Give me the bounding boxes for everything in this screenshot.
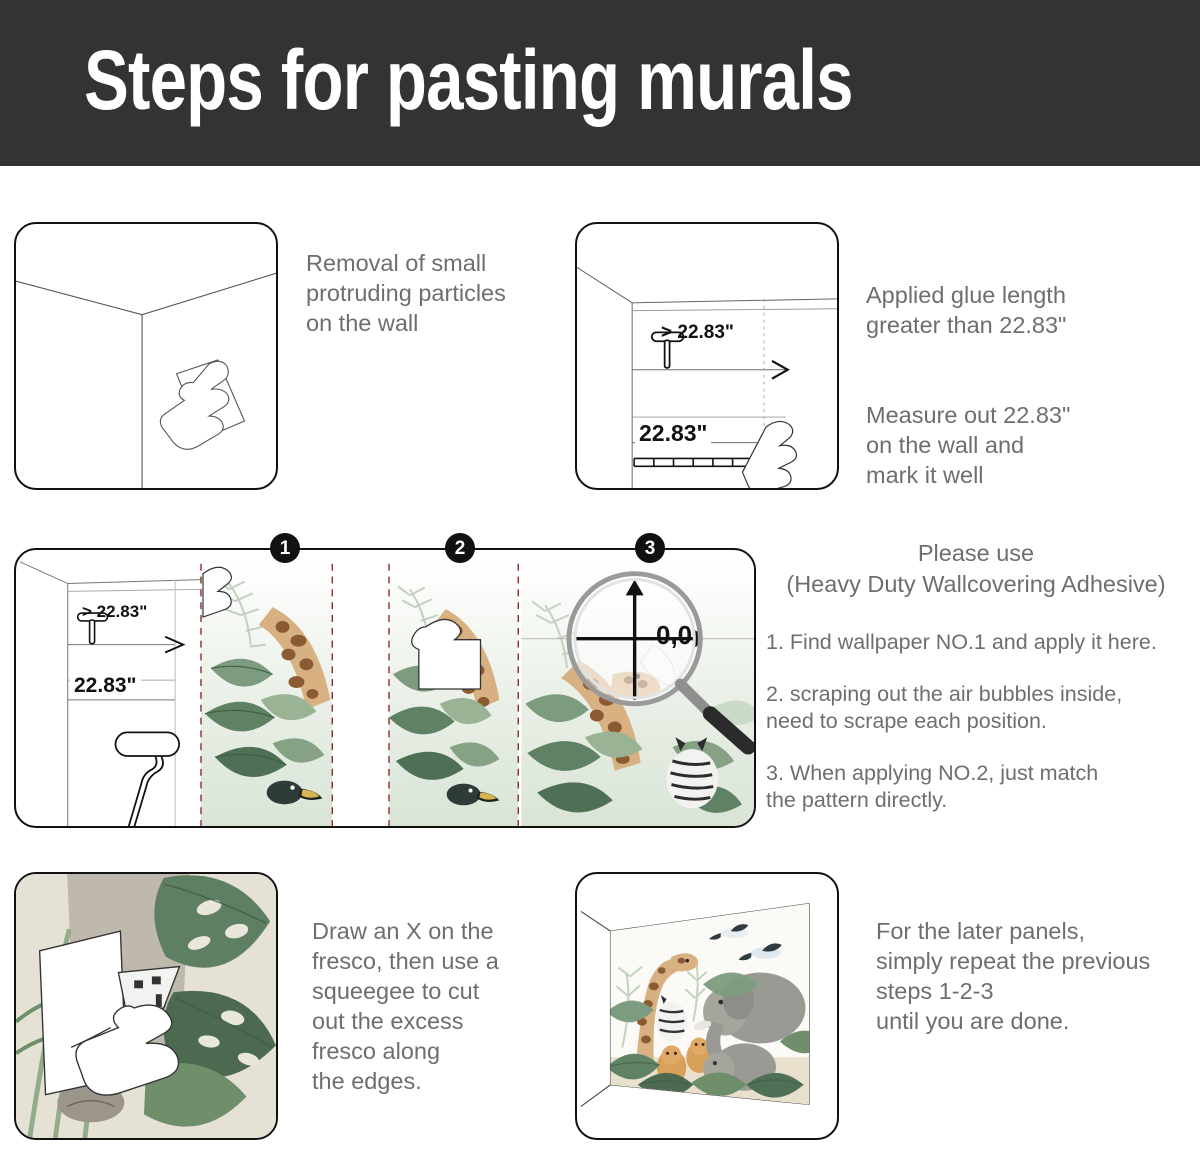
- caption-applied-glue: Applied glue length greater than 22.83": [866, 280, 1186, 340]
- caption-measure-wall: Measure out 22.83" on the wall and mark …: [866, 400, 1186, 490]
- step-badge-2: 2: [445, 533, 475, 563]
- panel-remove-particles: [14, 222, 278, 490]
- panel3-wall-measure-label: 22.83": [70, 674, 141, 698]
- panel3-glue-measure-label: > 22.83": [82, 602, 147, 622]
- wall-roller-tape-illustration: [577, 224, 837, 488]
- step-badge-1: 1: [270, 533, 300, 563]
- instructions-block: Please use (Heavy Duty Wallcovering Adhe…: [766, 538, 1186, 815]
- wall-corner-sanding-illustration: [16, 224, 276, 488]
- instruction-item-2: 2. scraping out the air bubbles inside, …: [766, 681, 1186, 736]
- panel-repeat-steps: [575, 872, 839, 1140]
- squeegee-cut-illustration: [16, 874, 276, 1138]
- magnifier-origin-label: 0,0: [656, 620, 692, 651]
- instructions-heading: Please use: [766, 538, 1186, 569]
- infographic-page: Steps for pasting murals Removal of smal…: [0, 0, 1200, 1152]
- panel-cut-excess: [14, 872, 278, 1140]
- instructions-subheading: (Heavy Duty Wallcovering Adhesive): [766, 569, 1186, 600]
- wall-measure-label: 22.83": [635, 420, 711, 447]
- caption-cut-excess: Draw an X on the fresco, then use a sque…: [312, 916, 572, 1096]
- caption-remove-particles: Removal of small protruding particles on…: [306, 248, 556, 338]
- panel-apply-glue-measure: > 22.83" 22.83": [575, 222, 839, 490]
- page-title: Steps for pasting murals: [84, 38, 853, 122]
- step-badge-3: 3: [635, 533, 665, 563]
- glue-length-measure-label: > 22.83": [661, 322, 734, 344]
- panel-apply-steps: > 22.83" 22.83" 0,0: [14, 548, 756, 828]
- instruction-item-1: 1. Find wallpaper NO.1 and apply it here…: [766, 629, 1186, 657]
- caption-repeat-steps: For the later panels, simply repeat the …: [876, 916, 1200, 1036]
- header-bar: Steps for pasting murals: [0, 0, 1200, 166]
- instruction-item-3: 3. When applying NO.2, just match the pa…: [766, 760, 1186, 815]
- finished-mural-illustration: [577, 874, 837, 1138]
